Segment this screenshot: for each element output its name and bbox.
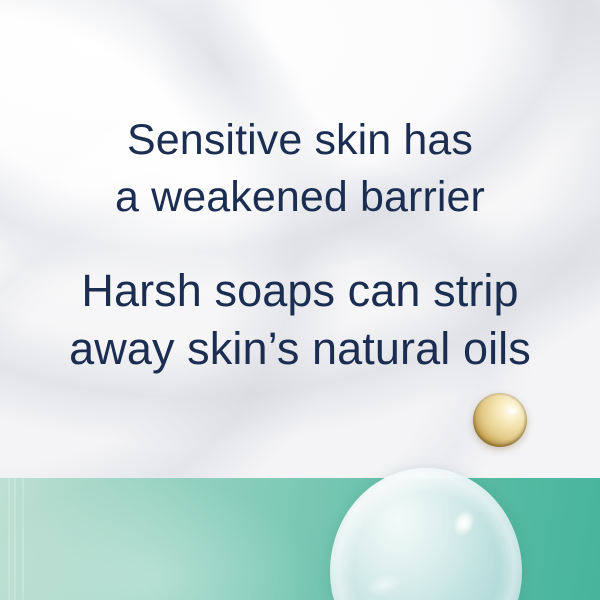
golden-oil-droplet-icon bbox=[473, 393, 527, 447]
teal-band-streak-3 bbox=[22, 478, 24, 600]
claim-one-line-one: Sensitive skin has bbox=[0, 112, 600, 169]
oil-droplet-rim bbox=[473, 393, 527, 447]
marketing-panel: Sensitive skin has a weakened barrier Ha… bbox=[0, 0, 600, 600]
teal-band-streak-2 bbox=[14, 478, 16, 600]
headline-copy: Sensitive skin has a weakened barrier Ha… bbox=[0, 112, 600, 378]
teal-band-streak-1 bbox=[8, 478, 10, 600]
claim-block-two: Harsh soaps can strip away skin’s natura… bbox=[0, 262, 600, 378]
claim-two-line-two: away skin’s natural oils bbox=[0, 320, 600, 378]
claim-block-one: Sensitive skin has a weakened barrier bbox=[0, 112, 600, 226]
claim-one-line-two: a weakened barrier bbox=[0, 169, 600, 226]
claim-two-line-one: Harsh soaps can strip bbox=[0, 262, 600, 320]
